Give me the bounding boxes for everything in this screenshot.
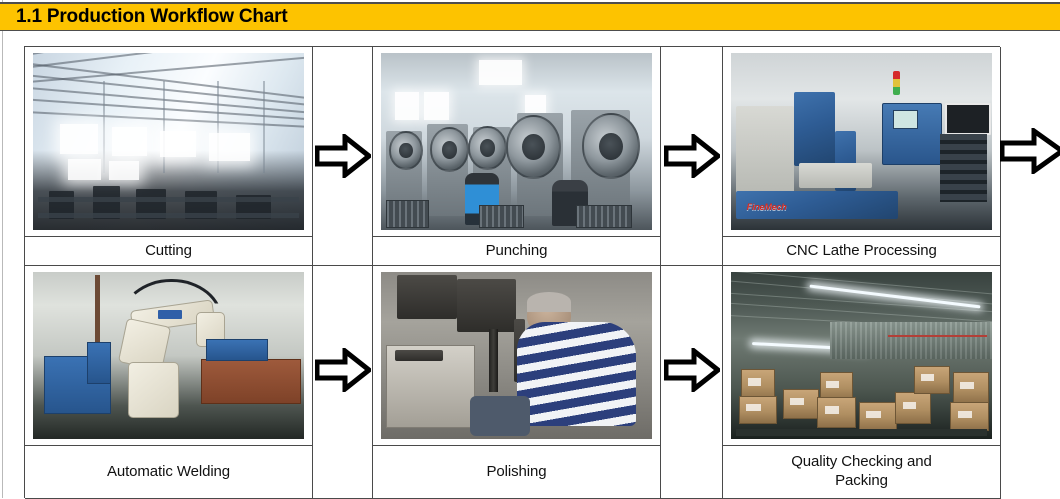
- page-edge-line: [2, 0, 3, 498]
- workflow-label-cell-cutting: Cutting: [25, 237, 313, 266]
- production-workflow-table: FineMech Cutting Punching CNC Lathe Proc…: [24, 46, 1000, 498]
- workflow-step-label-line-1: Quality Checking and: [791, 453, 932, 470]
- workflow-cell-arrow-1: [313, 47, 373, 266]
- workflow-step-label: CNC Lathe Processing: [786, 242, 937, 261]
- workflow-cell-packing-image: [723, 266, 1001, 446]
- workflow-step-label-line-2: Packing: [835, 472, 888, 489]
- workflow-spacer-cell-3: [313, 446, 373, 499]
- workflow-cell-arrow-2: [661, 47, 723, 266]
- workflow-spacer-cell-4: [661, 446, 723, 499]
- page-canvas: 1.1 Production Workflow Chart: [0, 0, 1060, 498]
- workflow-cell-polishing-image: [373, 266, 661, 446]
- right-block-arrow-icon: [315, 134, 371, 178]
- workflow-row-top: FineMech: [25, 47, 1001, 266]
- workflow-cell-cnc-image: FineMech: [723, 47, 1001, 237]
- workflow-label-cell-punching: Punching: [373, 237, 661, 266]
- page-title: 1.1 Production Workflow Chart: [16, 6, 287, 28]
- section-title-bar: 1.1 Production Workflow Chart: [0, 2, 1060, 31]
- workflow-label-cell-cnc: CNC Lathe Processing: [723, 237, 1001, 266]
- workflow-label-cell-packing: Quality Checking and Packing: [723, 446, 1001, 499]
- photo-warehouse-packing: [731, 272, 992, 439]
- right-block-arrow-icon: [315, 348, 371, 392]
- workflow-step-label: Automatic Welding: [107, 463, 230, 482]
- photo-punching-presses: [381, 53, 652, 230]
- workflow-step-label: Cutting: [145, 242, 192, 261]
- workflow-step-label-multiline: Quality Checking and Packing: [791, 453, 932, 491]
- workflow-step-label: Punching: [486, 242, 548, 261]
- workflow-label-cell-welding: Automatic Welding: [25, 446, 313, 499]
- right-block-arrow-icon: [664, 134, 720, 178]
- workflow-step-label: Polishing: [487, 463, 547, 482]
- workflow-cell-welding-image: [25, 266, 313, 446]
- cnc-brand-label: FineMech: [747, 202, 787, 212]
- photo-polishing-worker: [381, 272, 652, 439]
- workflow-cell-cutting-image: [25, 47, 313, 237]
- right-block-arrow-icon: [664, 348, 720, 392]
- workflow-label-cell-polishing: Polishing: [373, 446, 661, 499]
- workflow-cell-punching-image: [373, 47, 661, 237]
- photo-cnc-machine: FineMech: [731, 53, 992, 230]
- right-block-arrow-icon-outside: [1000, 128, 1060, 174]
- photo-cutting-workshop: [33, 53, 304, 230]
- photo-welding-robot: [33, 272, 304, 439]
